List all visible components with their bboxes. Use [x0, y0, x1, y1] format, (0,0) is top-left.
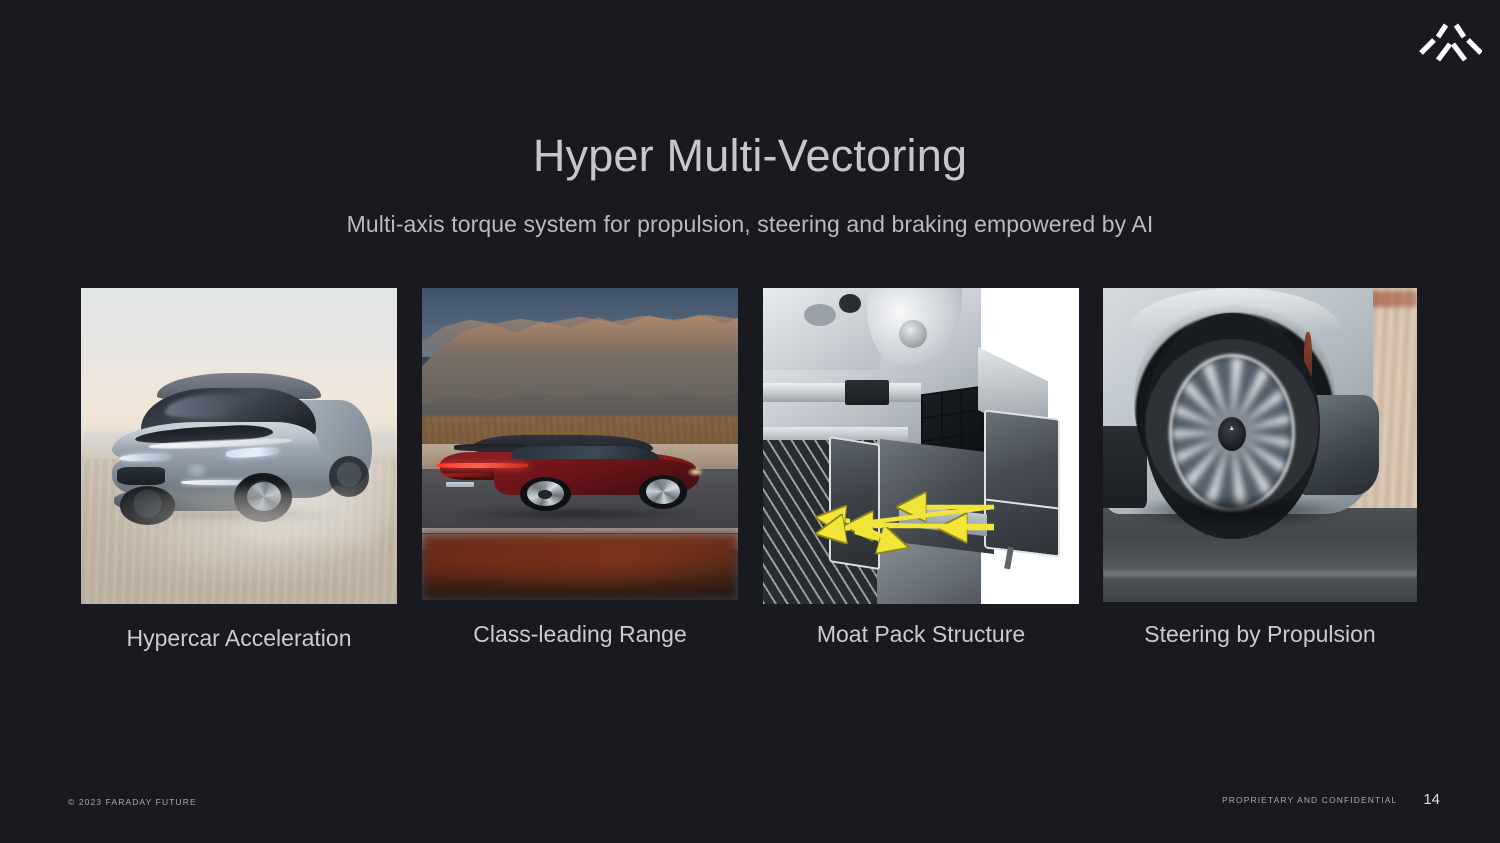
footer-confidentiality-notice: PROPRIETARY AND CONFIDENTIAL [1222, 795, 1397, 805]
card-image-frame [81, 288, 397, 604]
feature-card-class-leading-range: Class-leading Range [422, 288, 738, 600]
card-image-frame [422, 288, 738, 600]
foreground-brush-blur [422, 534, 738, 600]
wheel-shadow [1128, 495, 1348, 526]
hub-badge-icon: ▲ [1224, 425, 1240, 444]
rear-hub [538, 490, 552, 499]
card-image-frame: ▲ [1103, 288, 1417, 602]
license-plate [446, 482, 474, 488]
taillight-lower [440, 473, 491, 477]
feature-card-hypercar-acceleration: Hypercar Acceleration [81, 288, 397, 604]
slide-page-number: 14 [1423, 791, 1440, 808]
road-edge-line [422, 528, 738, 532]
feature-card-grid: Hypercar Acceleration [81, 288, 1417, 658]
car-shadow [454, 509, 699, 519]
card-caption: Class-leading Range [473, 621, 687, 648]
headlight-glow [687, 467, 704, 477]
card-caption: Moat Pack Structure [817, 621, 1025, 648]
front-grille [117, 467, 165, 485]
card-caption: Hypercar Acceleration [127, 625, 352, 652]
card-caption: Steering by Propulsion [1144, 621, 1375, 648]
page-title: Hyper Multi-Vectoring [0, 131, 1500, 181]
dust-cloud-ground [106, 490, 378, 585]
feature-card-moat-pack-structure: Moat Pack Structure [763, 288, 1079, 604]
car-body-red [431, 435, 715, 516]
image-moat-pack-cad [763, 288, 1079, 604]
front-badge-icon [183, 464, 210, 477]
card-image-frame [763, 288, 1079, 604]
image-red-car-highway [422, 288, 738, 600]
image-spinning-wheel: ▲ [1103, 288, 1417, 602]
footer-copyright: © 2023 FARADAY FUTURE [68, 797, 197, 807]
faraday-future-logo [1412, 16, 1482, 72]
page-subtitle: Multi-axis torque system for propulsion,… [0, 211, 1500, 238]
footer-right-group: PROPRIETARY AND CONFIDENTIAL 14 [1222, 791, 1440, 808]
image-silver-car-accelerating [81, 288, 397, 604]
taillight-bar [437, 463, 528, 468]
road-seam-line [1103, 570, 1417, 577]
feature-card-steering-by-propulsion: ▲ Steering by Propulsion [1103, 288, 1417, 602]
logo-glyph [1412, 16, 1482, 72]
load-path-arrows [763, 288, 1079, 604]
